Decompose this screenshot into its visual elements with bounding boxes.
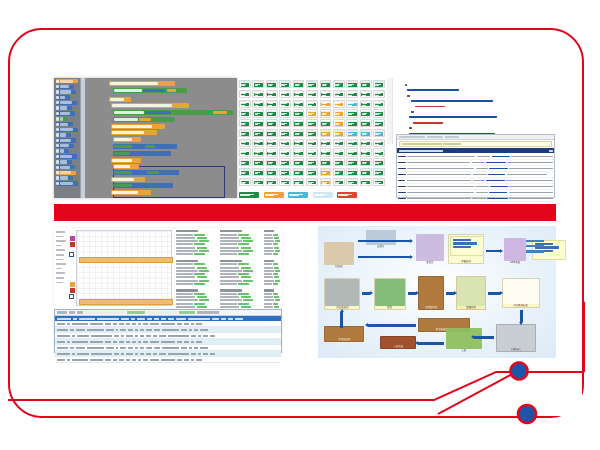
status-cell[interactable] (320, 148, 332, 156)
code-block-13[interactable] (113, 170, 179, 175)
status-cell[interactable] (266, 90, 278, 98)
code-block-4[interactable] (113, 110, 233, 115)
status-cell[interactable] (333, 158, 345, 166)
table-cell (143, 359, 148, 361)
status-cell[interactable] (346, 80, 358, 88)
status-cell[interactable] (360, 178, 372, 186)
planner-data-table[interactable] (54, 309, 282, 353)
palette-block-4[interactable] (56, 101, 77, 105)
status-cell[interactable] (266, 119, 278, 127)
planner-marker-5[interactable] (69, 294, 74, 299)
table-cell (150, 341, 160, 343)
table-cell (198, 335, 202, 337)
table-cell (153, 335, 157, 337)
status-cell[interactable] (306, 119, 318, 127)
status-cell[interactable] (360, 100, 372, 108)
status-cell[interactable] (293, 178, 305, 186)
planner-text-row (176, 253, 216, 255)
flow-node-inbound-complete[interactable]: 入库完成 (380, 336, 416, 349)
planner-group-title (220, 260, 242, 262)
flow-node-reject-warehouse[interactable]: 不合格品库 (324, 326, 364, 342)
blocks-canvas[interactable] (85, 78, 237, 198)
log-tabbar[interactable] (397, 135, 554, 140)
table-cell (90, 323, 103, 325)
status-cell[interactable] (252, 148, 264, 156)
status-cell[interactable] (360, 158, 372, 166)
flow-node-quantity-check[interactable]: 数量检验 (456, 276, 486, 310)
planner-marker-2[interactable] (69, 252, 74, 257)
table-cell (72, 323, 87, 325)
planner-text-row (176, 237, 216, 239)
palette-block-5[interactable] (56, 106, 72, 110)
status-cell[interactable] (279, 129, 291, 137)
status-cell[interactable] (346, 168, 358, 176)
status-cell[interactable] (373, 100, 385, 108)
status-cell[interactable] (320, 100, 332, 108)
status-cell[interactable] (279, 100, 291, 108)
gantt-bar-0[interactable] (79, 257, 173, 263)
table-cell (210, 353, 215, 355)
status-cell[interactable] (279, 109, 291, 117)
status-cell[interactable] (320, 168, 332, 176)
table-col-header-16[interactable] (235, 318, 243, 320)
code-block-12[interactable] (113, 164, 139, 169)
planner-marker-1[interactable] (70, 242, 75, 247)
palette-block-11[interactable] (56, 138, 76, 142)
code-block-15[interactable] (113, 183, 173, 188)
planner-text-row (176, 234, 216, 236)
block-segment (112, 125, 152, 129)
status-cell[interactable] (373, 158, 385, 166)
status-cell[interactable] (333, 168, 345, 176)
status-cell[interactable] (306, 168, 318, 176)
status-cell[interactable] (306, 80, 318, 88)
status-cell[interactable] (360, 168, 372, 176)
table-cell (189, 329, 192, 331)
planner-marker-3[interactable] (70, 282, 75, 287)
flow-node-icon (416, 234, 444, 261)
status-cell[interactable] (279, 119, 291, 127)
panel-status-grid[interactable] (239, 80, 385, 198)
table-cell (143, 341, 148, 343)
status-cell[interactable] (239, 168, 251, 176)
status-cell[interactable] (279, 148, 291, 156)
table-cell (57, 353, 70, 355)
status-cell[interactable] (333, 109, 345, 117)
table-cell (113, 341, 117, 343)
status-cell[interactable] (239, 148, 251, 156)
flow-node-inspection-area[interactable]: 收货暂存区 (418, 276, 444, 310)
table-cell (177, 323, 182, 325)
status-cell[interactable] (239, 119, 251, 127)
status-cell[interactable] (266, 148, 278, 156)
table-cell (203, 353, 208, 355)
status-cell[interactable] (333, 148, 345, 156)
planner-text-row (264, 306, 282, 308)
panel-code-editor[interactable] (387, 78, 555, 198)
status-cell[interactable] (333, 100, 345, 108)
status-cell[interactable] (360, 139, 372, 147)
status-cell[interactable] (279, 90, 291, 98)
palette-block-7[interactable] (56, 117, 68, 121)
palette-block-18[interactable] (56, 176, 73, 180)
table-cell (116, 329, 118, 331)
planner-group-title (264, 230, 274, 232)
palette-block-2[interactable] (56, 90, 76, 94)
status-cell[interactable] (373, 80, 385, 88)
table-cell (194, 329, 198, 331)
planner-text-row (264, 293, 282, 295)
table-cell (121, 353, 124, 355)
table-cell (67, 341, 70, 343)
gantt-bar-1[interactable] (79, 299, 173, 305)
status-cell[interactable] (320, 90, 332, 98)
status-cell[interactable] (373, 119, 385, 127)
table-col-header-13[interactable] (212, 318, 219, 320)
block-segment (114, 111, 144, 115)
blocks-palette[interactable] (54, 78, 80, 198)
code-block-14[interactable] (111, 177, 145, 182)
status-cell[interactable] (266, 80, 278, 88)
table-cell (168, 353, 189, 355)
status-cell[interactable] (252, 109, 264, 117)
flow-node-inbound-truck[interactable]: 供应商送货 (324, 278, 360, 310)
status-cell[interactable] (346, 100, 358, 108)
status-grid-cells[interactable] (239, 80, 385, 186)
table-cell (196, 359, 202, 361)
status-cell[interactable] (252, 139, 264, 147)
planner-text-row (176, 270, 216, 272)
palette-block-0[interactable] (56, 79, 78, 83)
status-cell[interactable] (293, 168, 305, 176)
table-col-header-3[interactable] (97, 318, 119, 320)
table-cell (140, 347, 144, 349)
status-cell[interactable] (306, 139, 318, 147)
status-cell[interactable] (306, 148, 318, 156)
table-cell (203, 335, 208, 337)
status-cell[interactable] (279, 139, 291, 147)
status-cell[interactable] (360, 90, 372, 98)
table-col-header-1[interactable] (73, 318, 77, 320)
status-cell[interactable] (373, 139, 385, 147)
status-cell[interactable] (346, 119, 358, 127)
planner-text-row (176, 296, 216, 298)
palette-block-9[interactable] (56, 128, 78, 132)
status-cell[interactable] (346, 90, 358, 98)
table-body[interactable] (55, 321, 281, 363)
status-cell[interactable] (266, 100, 278, 108)
code-block-7[interactable] (111, 130, 157, 135)
table-cell (146, 335, 151, 337)
status-cell[interactable] (252, 100, 264, 108)
planner-text-row (220, 303, 260, 305)
status-cell[interactable] (333, 90, 345, 98)
table-cell (184, 323, 189, 325)
status-cell[interactable] (346, 109, 358, 117)
code-block-10[interactable] (113, 151, 171, 156)
table-col-header-7[interactable] (147, 318, 152, 320)
table-cell (106, 329, 114, 331)
table-cell (120, 329, 126, 331)
status-cell[interactable] (266, 129, 278, 137)
block-segment (133, 171, 145, 175)
status-cell[interactable] (360, 109, 372, 117)
planner-group-title (264, 289, 274, 291)
panel-logistics-flow[interactable]: 供应商送货车收货台单据核对ERP系统供应商送货卸货收货暂存区数量检验打印条码标签… (318, 226, 556, 358)
table-col-header-2[interactable] (79, 318, 95, 320)
table-cell (114, 353, 119, 355)
palette-block-17[interactable] (56, 171, 76, 175)
code-block-6[interactable] (111, 124, 165, 129)
legend-status-alarm (337, 192, 357, 198)
block-segment (112, 131, 144, 135)
panel-production-planner[interactable] (54, 228, 282, 353)
block-segment (110, 82, 158, 86)
status-cell[interactable] (306, 158, 318, 166)
status-cell[interactable] (373, 178, 385, 186)
status-cell[interactable] (360, 119, 372, 127)
palette-block-12[interactable] (56, 144, 74, 148)
table-col-header-5[interactable] (131, 318, 135, 320)
log-row-list[interactable] (397, 153, 554, 208)
block-segment (213, 111, 227, 115)
block-segment (167, 89, 176, 93)
table-cell (105, 323, 111, 325)
status-cell[interactable] (252, 119, 264, 127)
code-block-5[interactable] (113, 117, 175, 122)
status-cell[interactable] (279, 80, 291, 88)
status-cell[interactable] (266, 178, 278, 186)
flow-node-label: 卸货 (388, 306, 393, 309)
status-cell[interactable] (320, 139, 332, 147)
status-cell[interactable] (373, 129, 385, 137)
status-cell[interactable] (293, 80, 305, 88)
status-cell[interactable] (239, 90, 251, 98)
table-cell (126, 353, 134, 355)
status-cell[interactable] (306, 90, 318, 98)
block-segment (133, 145, 143, 149)
status-cell[interactable] (346, 158, 358, 166)
status-cell[interactable] (360, 80, 372, 88)
status-cell[interactable] (373, 90, 385, 98)
table-cell (132, 359, 137, 361)
planner-marker-4[interactable] (70, 288, 75, 293)
flow-tag-line (453, 246, 471, 248)
status-cell[interactable] (320, 80, 332, 88)
table-cell (146, 329, 152, 331)
code-line-4 (415, 106, 445, 108)
status-cell[interactable] (252, 90, 264, 98)
status-cell[interactable] (279, 158, 291, 166)
status-cell[interactable] (239, 178, 251, 186)
table-cell (159, 335, 167, 337)
palette-block-19[interactable] (56, 181, 78, 185)
table-cell (106, 347, 114, 349)
status-cell[interactable] (239, 100, 251, 108)
status-cell[interactable] (266, 158, 278, 166)
planner-text-col-0 (176, 230, 216, 319)
code-block-1[interactable] (113, 88, 187, 93)
flow-node-receiving-desk[interactable]: 收货台 (416, 234, 444, 264)
flow-node-forklift-unload[interactable]: 卸货 (374, 278, 406, 310)
status-cell[interactable] (252, 129, 264, 137)
table-cell (135, 347, 138, 349)
code-block-11[interactable] (111, 158, 141, 163)
block-segment (112, 178, 134, 182)
table-cell (91, 353, 112, 355)
status-cell[interactable] (320, 129, 332, 137)
palette-block-16[interactable] (56, 165, 75, 169)
table-cell (57, 329, 68, 331)
status-cell[interactable] (346, 139, 358, 147)
palette-block-14[interactable] (56, 154, 77, 158)
code-line-8 (409, 127, 412, 129)
flow-node-delivery-vehicle[interactable]: 送货车 (366, 230, 396, 248)
table-cell (135, 329, 138, 331)
table-cell (67, 323, 70, 325)
table-cell (87, 347, 104, 349)
status-cell[interactable] (306, 109, 318, 117)
table-cell (113, 359, 117, 361)
planner-gantt-grid[interactable] (76, 230, 172, 306)
table-col-header-12[interactable] (188, 318, 210, 320)
code-line-5 (411, 111, 414, 113)
status-cell[interactable] (333, 139, 345, 147)
status-cell[interactable] (252, 168, 264, 176)
planner-text-row (220, 263, 260, 265)
panel-blocks-editor[interactable] (54, 78, 237, 198)
block-segment (114, 89, 142, 93)
status-cell[interactable] (293, 90, 305, 98)
table-cell (128, 347, 133, 349)
code-block-16[interactable] (111, 190, 151, 195)
planner-text-row (220, 247, 260, 249)
status-cell[interactable] (346, 148, 358, 156)
table-cell (138, 359, 141, 361)
flow-node-erp-system[interactable]: ERP系统 (504, 238, 526, 264)
status-cell[interactable] (266, 168, 278, 176)
status-cell[interactable] (279, 168, 291, 176)
status-cell[interactable] (320, 119, 332, 127)
status-cell[interactable] (266, 139, 278, 147)
status-cell[interactable] (373, 148, 385, 156)
code-block-9[interactable] (113, 144, 177, 149)
table-col-header-9[interactable] (161, 318, 166, 320)
table-cell (113, 323, 117, 325)
table-col-header-15[interactable] (228, 318, 233, 320)
status-cell[interactable] (239, 109, 251, 117)
table-col-header-14[interactable] (221, 318, 226, 320)
palette-block-8[interactable] (56, 122, 73, 126)
status-cell[interactable] (252, 80, 264, 88)
palette-block-3[interactable] (56, 95, 70, 99)
status-cell[interactable] (306, 100, 318, 108)
status-cell[interactable] (360, 129, 372, 137)
flow-node-supplier-operator[interactable]: 供应商 (324, 242, 354, 268)
planner-marker-0[interactable] (70, 236, 75, 241)
status-cell[interactable] (333, 119, 345, 127)
status-cell[interactable] (239, 80, 251, 88)
status-cell[interactable] (320, 109, 332, 117)
status-cell[interactable] (293, 139, 305, 147)
flow-node-label: 数量检验 (466, 306, 476, 309)
status-cell[interactable] (373, 109, 385, 117)
status-cell[interactable] (306, 129, 318, 137)
planner-text-row (176, 303, 216, 305)
status-cell[interactable] (279, 178, 291, 186)
table-col-header-11[interactable] (176, 318, 186, 320)
flow-node-scan-in[interactable]: 扫码录入 (496, 324, 536, 352)
palette-block-13[interactable] (56, 149, 69, 153)
table-cell (126, 323, 130, 325)
planner-text-row (264, 283, 282, 285)
code-line-1 (407, 89, 459, 91)
table-row[interactable] (55, 357, 281, 363)
block-segment (133, 184, 144, 188)
status-cell[interactable] (333, 178, 345, 186)
palette-block-10[interactable] (56, 133, 71, 137)
status-cell[interactable] (320, 178, 332, 186)
palette-block-6[interactable] (56, 111, 75, 115)
table-cell (210, 335, 215, 337)
status-cell[interactable] (373, 168, 385, 176)
status-cell[interactable] (333, 129, 345, 137)
status-cell[interactable] (252, 158, 264, 166)
block-segment (114, 145, 132, 149)
status-cell[interactable] (239, 158, 251, 166)
status-cell[interactable] (333, 80, 345, 88)
status-cell[interactable] (293, 129, 305, 137)
status-cell[interactable] (293, 109, 305, 117)
palette-block-15[interactable] (56, 160, 72, 164)
status-cell[interactable] (293, 158, 305, 166)
status-cell[interactable] (293, 148, 305, 156)
table-cell (72, 335, 74, 337)
status-cell[interactable] (346, 129, 358, 137)
code-block-2[interactable] (109, 97, 131, 102)
status-cell[interactable] (239, 129, 251, 137)
flow-node-shelving[interactable]: 上架 (446, 328, 482, 352)
table-col-header-8[interactable] (154, 318, 159, 320)
planner-text-row (220, 280, 260, 282)
code-block-0[interactable] (109, 81, 175, 86)
status-cell[interactable] (293, 119, 305, 127)
output-log-window[interactable] (396, 134, 555, 198)
table-col-header-4[interactable] (121, 318, 129, 320)
status-cell[interactable] (266, 109, 278, 117)
table-col-header-0[interactable] (57, 318, 71, 320)
table-cell (181, 329, 188, 331)
status-cell[interactable] (320, 158, 332, 166)
table-cell (67, 359, 70, 361)
status-cell[interactable] (306, 178, 318, 186)
palette-block-1[interactable] (56, 85, 74, 89)
log-find-bar[interactable] (399, 141, 552, 147)
status-cell[interactable] (346, 178, 358, 186)
table-col-header-10[interactable] (168, 318, 174, 320)
table-cell (194, 347, 198, 349)
code-block-3[interactable] (111, 103, 189, 108)
status-cell[interactable] (252, 178, 264, 186)
planner-text-row (264, 234, 282, 236)
flow-node-barcode-print[interactable]: 打印条码标签 (502, 278, 540, 308)
status-cell[interactable] (239, 139, 251, 147)
flow-node-label: 收货台 (426, 261, 433, 264)
status-cell[interactable] (360, 148, 372, 156)
table-col-header-6[interactable] (137, 318, 145, 320)
status-cell[interactable] (293, 100, 305, 108)
code-block-8[interactable] (113, 137, 141, 142)
